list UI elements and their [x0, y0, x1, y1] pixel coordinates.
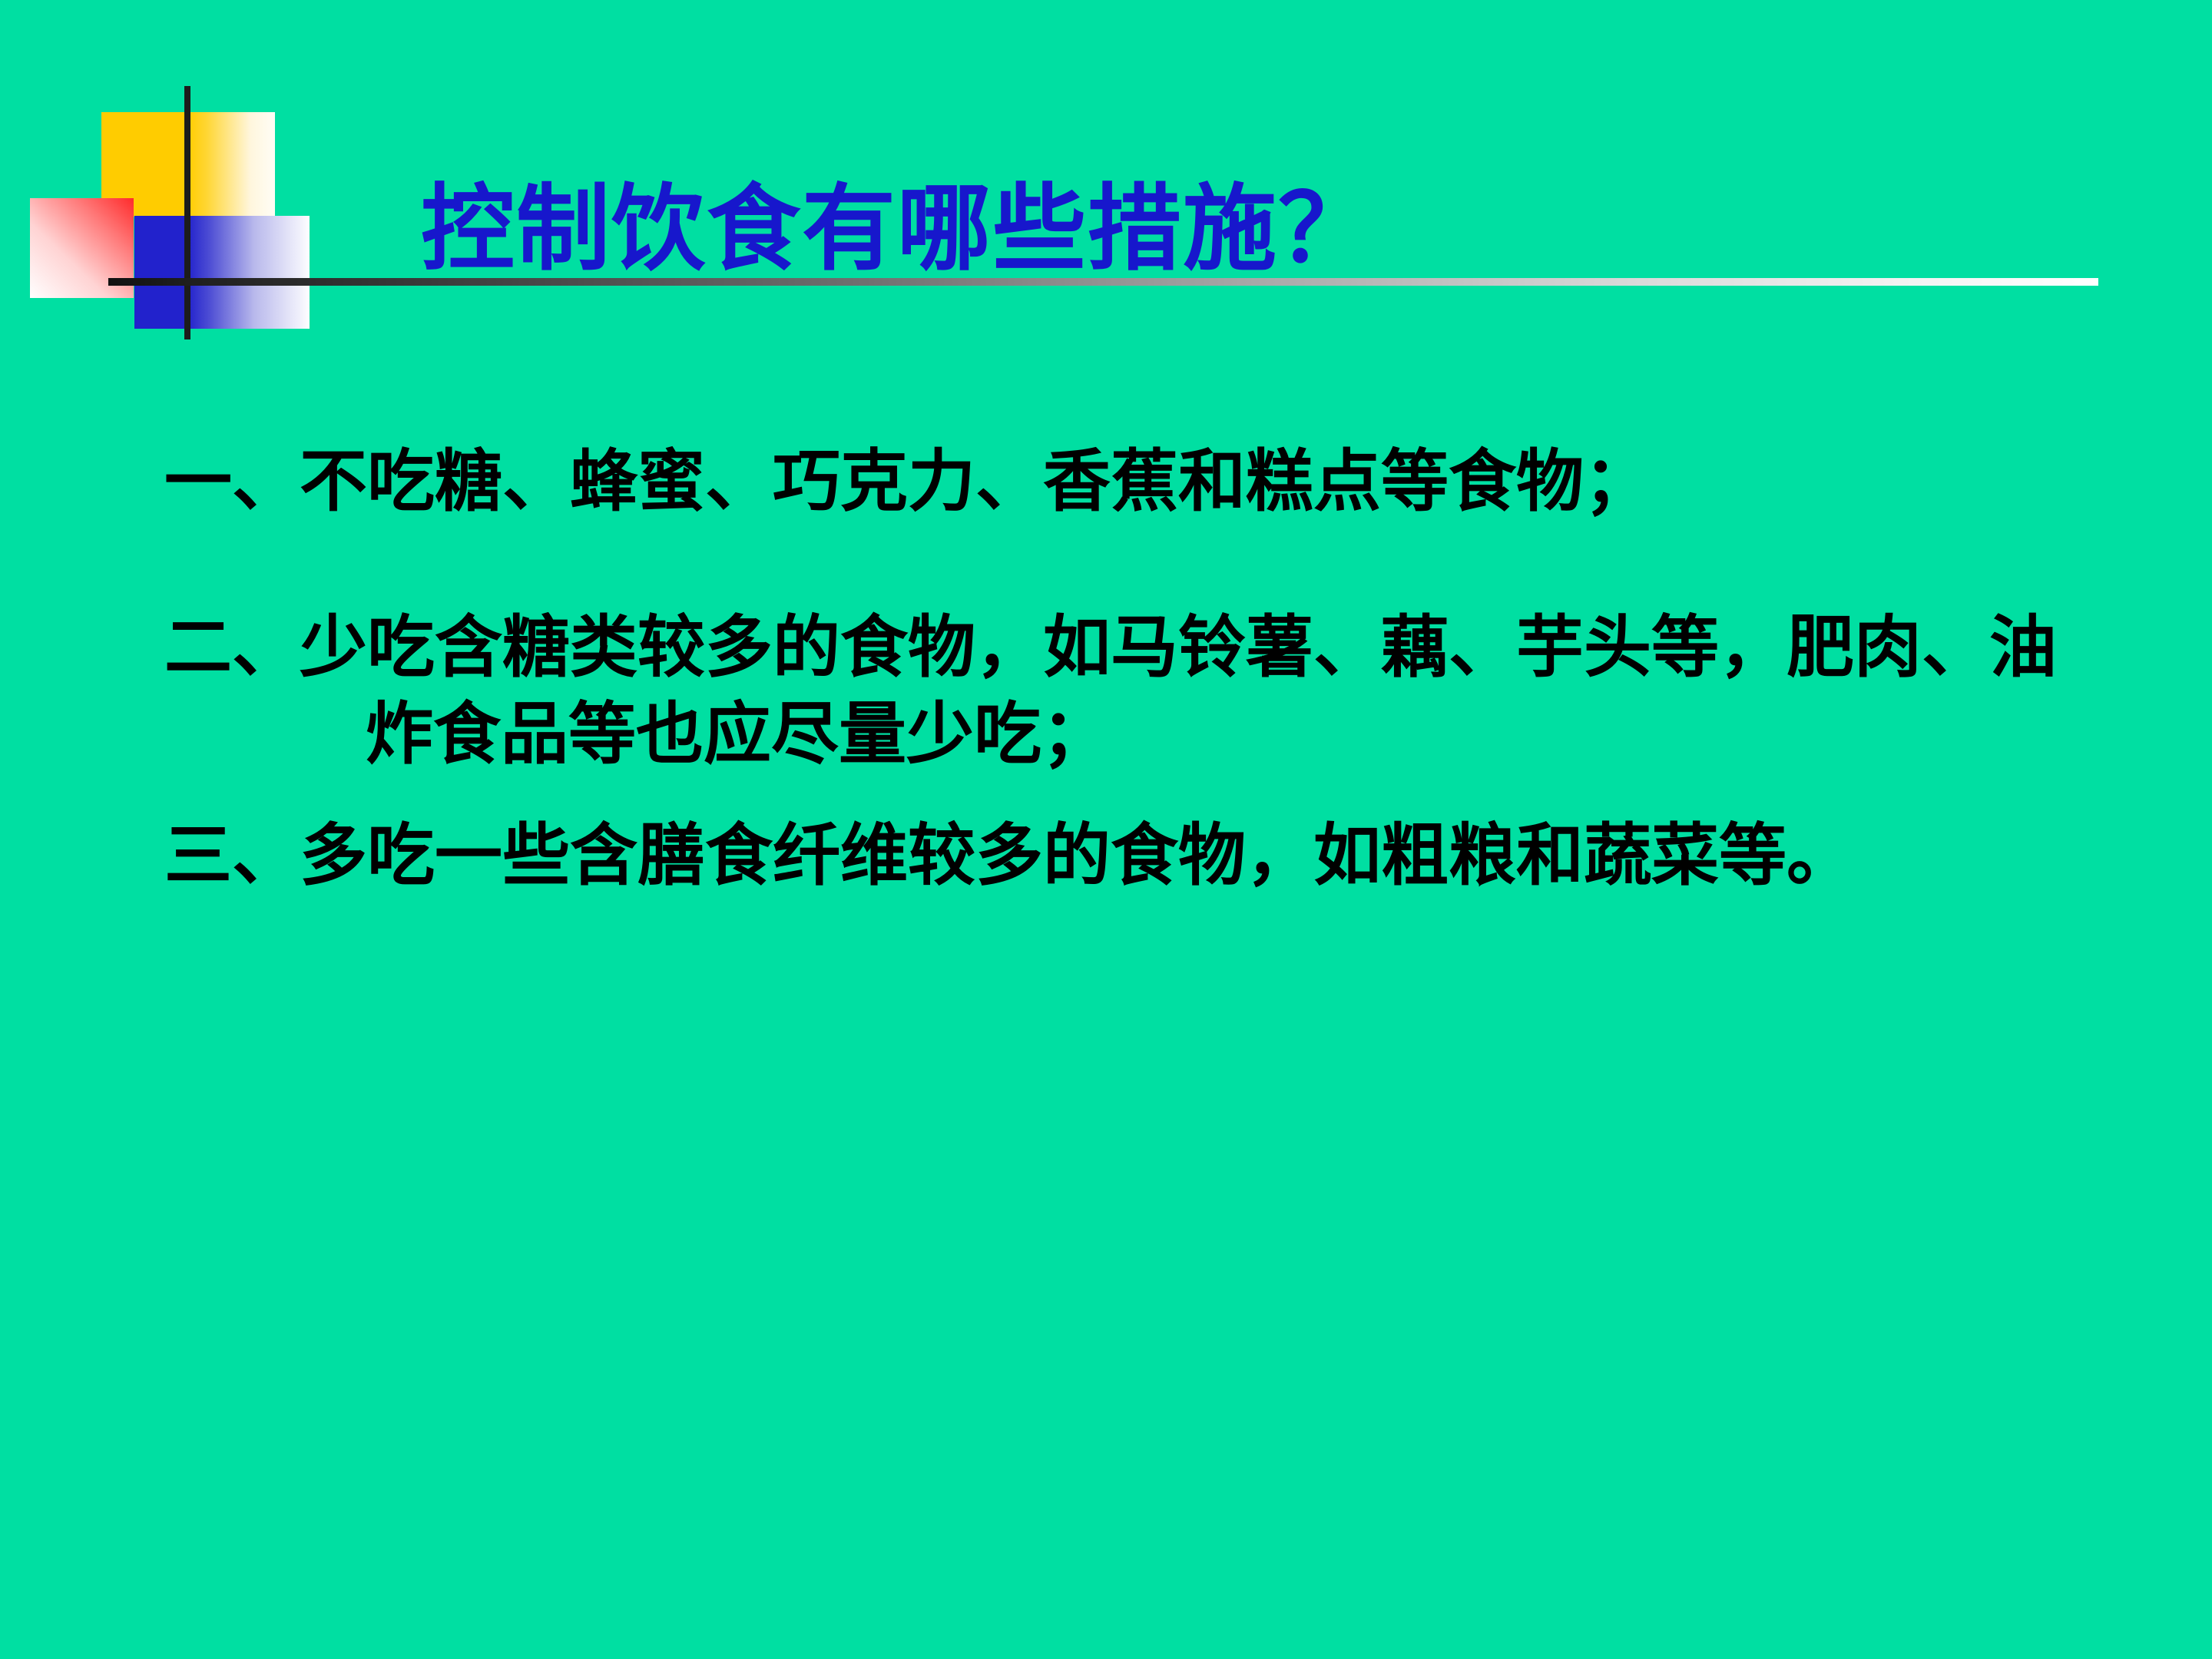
slide-title: 控制饮食有哪些措施？ [421, 177, 1957, 282]
body-item-2: 二、少吃含糖类较多的食物，如马铃薯、藕、芋头等，肥肉、油炸食品等也应尽量少吃； [164, 604, 2069, 778]
body-item-3: 三、多吃一些含膳食纤维较多的食物，如粗粮和蔬菜等。 [164, 812, 2069, 899]
slide-body: 一、不吃糖、蜂蜜、巧克力、香蕉和糕点等食物； 二、少吃含糖类较多的食物，如马铃薯… [164, 438, 2069, 899]
blue-square [134, 216, 187, 329]
body-item-1: 一、不吃糖、蜂蜜、巧克力、香蕉和糕点等食物； [164, 438, 2069, 525]
decorative-logo-block [0, 0, 361, 361]
slide-canvas: 控制饮食有哪些措施？ 一、不吃糖、蜂蜜、巧克力、香蕉和糕点等食物； 二、少吃含糖… [0, 0, 2212, 1659]
blue-gradient-square [187, 216, 310, 329]
title-divider [108, 278, 2098, 286]
yellow-gradient-square [187, 112, 275, 217]
vertical-rule-icon [184, 86, 190, 339]
